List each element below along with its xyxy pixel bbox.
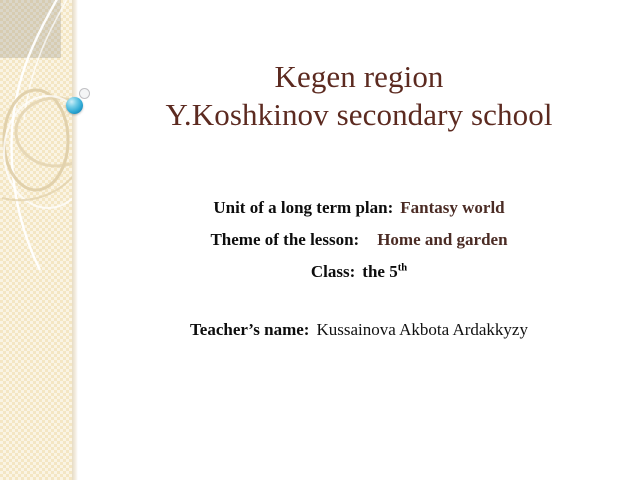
- slide-canvas: Kegen region Y.Koshkinov secondary schoo…: [0, 0, 640, 480]
- field-teacher-name: Teacher’s name:Kussainova Akbota Ardakky…: [78, 318, 640, 342]
- field-class-value: the 5: [362, 262, 397, 281]
- slide-title: Kegen region Y.Koshkinov secondary schoo…: [78, 58, 640, 134]
- lesson-info-block: Unit of a long term plan:Fantasy world T…: [78, 192, 640, 288]
- field-unit-of-long-term-plan: Unit of a long term plan:Fantasy world: [78, 192, 640, 224]
- field-theme-of-lesson: Theme of the lesson:Home and garden: [78, 224, 640, 256]
- title-line-2: Y.Koshkinov secondary school: [78, 96, 640, 134]
- field-unit-value: Fantasy world: [400, 198, 504, 217]
- sidebar-arc-decoration: [0, 0, 78, 480]
- field-class: Class:the 5th: [78, 256, 640, 288]
- field-class-label: Class:: [311, 262, 355, 281]
- field-theme-label: Theme of the lesson:: [210, 230, 359, 249]
- field-class-ordinal-suffix: th: [398, 262, 407, 273]
- field-teacher-value: Kussainova Akbota Ardakkyzy: [316, 320, 528, 339]
- field-teacher-label: Teacher’s name:: [190, 320, 309, 339]
- field-unit-label: Unit of a long term plan:: [213, 198, 393, 217]
- decorative-sidebar: [0, 0, 78, 480]
- field-theme-value: Home and garden: [377, 230, 507, 249]
- slide-content: Kegen region Y.Koshkinov secondary schoo…: [78, 0, 640, 480]
- title-line-1: Kegen region: [78, 58, 640, 96]
